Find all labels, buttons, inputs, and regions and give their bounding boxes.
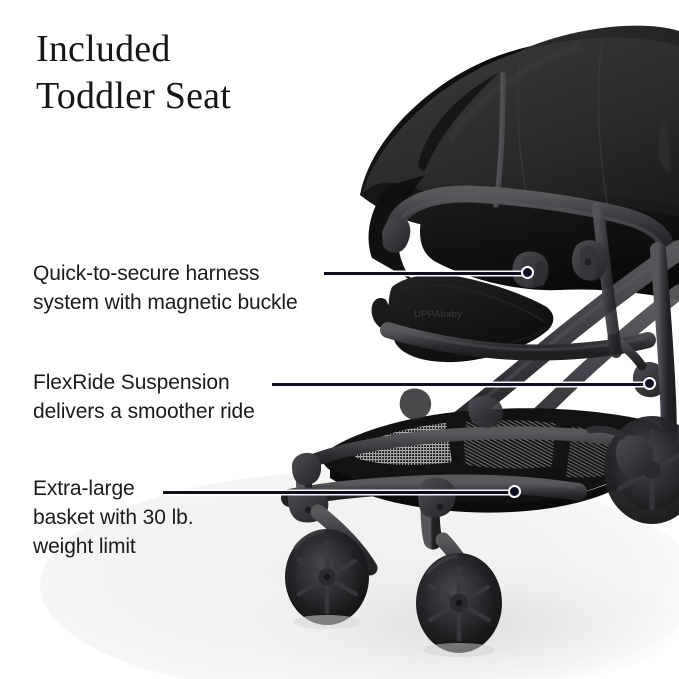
leader-endpoint-dot [508, 485, 521, 498]
leader-line-segment [324, 272, 522, 275]
leader-line-segment [272, 383, 644, 386]
leader-endpoint-dot [521, 266, 534, 279]
callout-label-harness: Quick-to-secure harness system with magn… [33, 259, 298, 317]
product-feature-image: UPPAbaby [0, 0, 679, 679]
callout-label-suspension: FlexRide Suspension delivers a smoother … [33, 368, 255, 426]
page-title: Included Toddler Seat [36, 26, 231, 120]
leader-line-segment [163, 491, 509, 494]
brand-mark: UPPAbaby [414, 309, 462, 320]
leader-endpoint-dot [643, 377, 656, 390]
front-wheel [285, 487, 370, 625]
callout-label-basket: Extra-large basket with 30 lb. weight li… [33, 474, 193, 561]
svg-text:UPPAbaby: UPPAbaby [414, 309, 462, 320]
